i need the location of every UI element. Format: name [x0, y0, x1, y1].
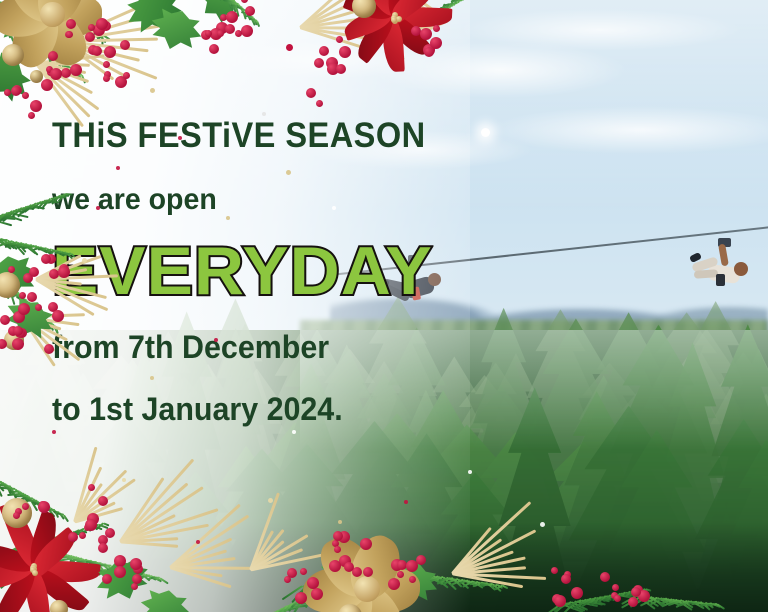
- festive-promo-poster: THiS FESTiVE SEASON we are open EVERYDAY…: [0, 0, 768, 612]
- promo-copy-block: THiS FESTiVE SEASON we are open EVERYDAY…: [52, 118, 452, 425]
- rider-leg: [694, 269, 718, 279]
- rider-harness: [716, 274, 725, 286]
- subheadline: we are open: [52, 185, 432, 215]
- headline: THiS FESTiVE SEASON: [52, 118, 424, 153]
- zipline-rider-right: [690, 238, 762, 304]
- date-line-end: to 1st January 2024.: [52, 393, 432, 425]
- rider-head: [734, 262, 748, 276]
- highlight-word: EVERYDAY: [52, 237, 460, 305]
- date-line-start: from 7th December: [52, 331, 432, 363]
